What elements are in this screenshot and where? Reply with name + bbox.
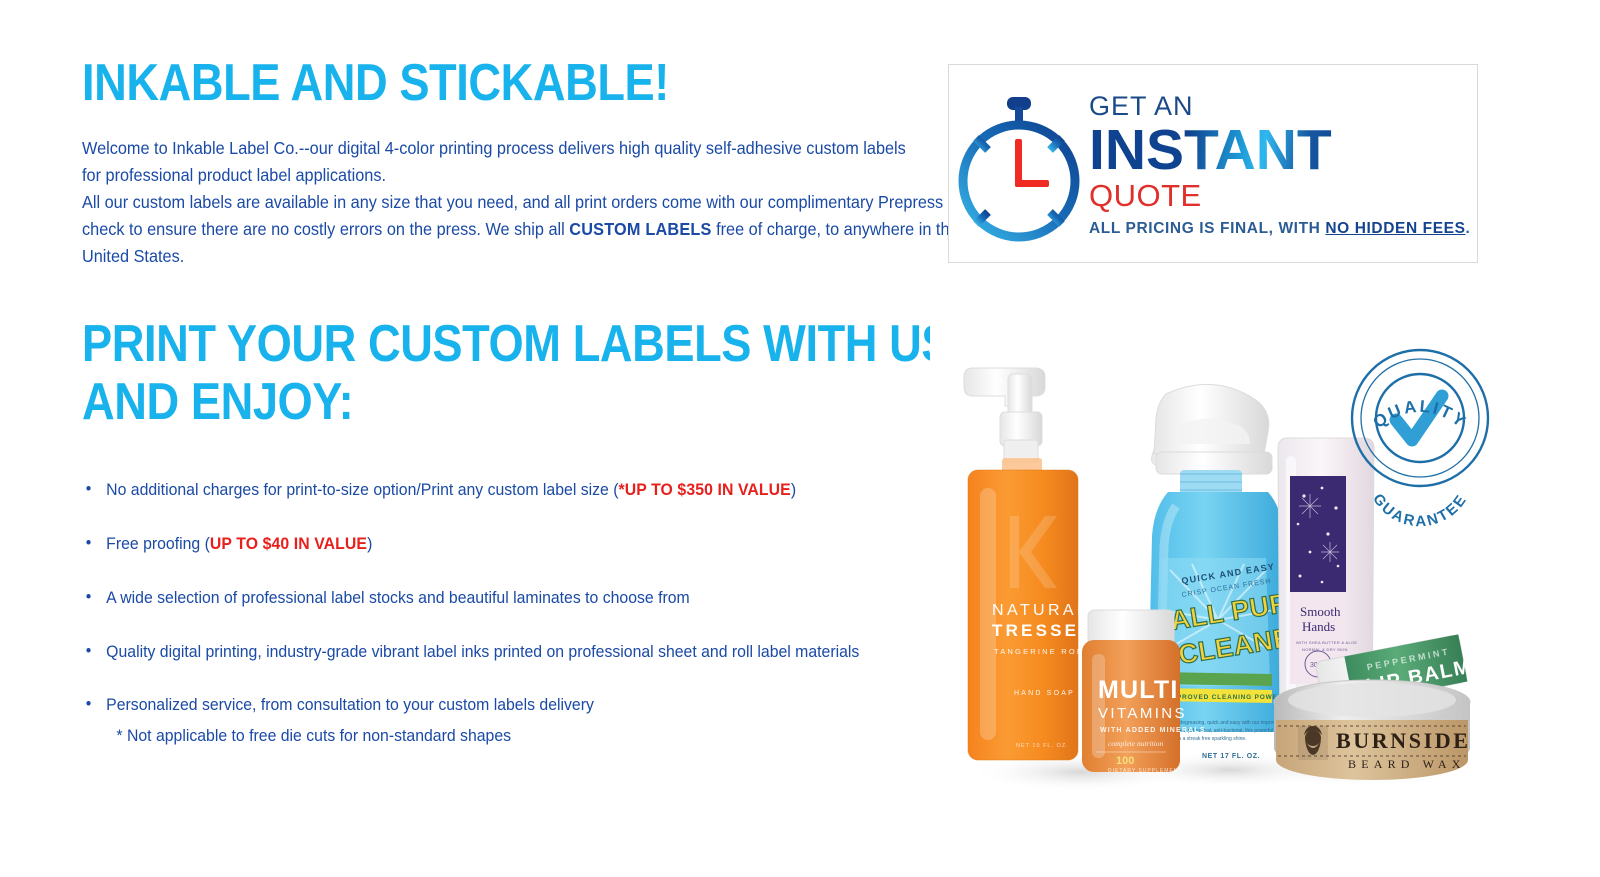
svg-text:BEARD WAX: BEARD WAX [1348,757,1466,771]
instant-quote-text-block: GET AN INSTANT QUOTE ALL PRICING IS FINA… [1089,89,1482,238]
benefit-text: Free proofing ( [106,534,210,553]
quote-tagline: ALL PRICING IS FINAL, WITH NO HIDDEN FEE… [1089,220,1470,238]
intro-paragraphs: Welcome to Inkable Label Co.--our digita… [82,135,975,271]
page-title: INKABLE AND STICKABLE! [82,58,804,109]
benefit-text: Quality digital printing, industry-grade… [106,642,859,661]
intro-para-2: All our custom labels are available in a… [82,189,975,270]
list-item: Free proofing (UP TO $40 IN VALUE) [82,531,910,557]
list-item: Personalized service, from consultation … [82,692,910,749]
svg-text:NET 17 FL. OZ.: NET 17 FL. OZ. [1202,753,1260,760]
svg-text:DIETARY SUPPLEMENT: DIETARY SUPPLEMENT [1108,768,1182,774]
svg-text:100: 100 [1116,755,1134,767]
section-title-print-with-us: PRINT YOUR CUSTOM LABELS WITH US AND ENJ… [82,315,943,431]
svg-text:TRESSES: TRESSES [992,621,1094,640]
list-item: A wide selection of professional label s… [82,585,910,611]
quote-tagline-after: . [1466,220,1471,237]
benefit-text: No additional charges for print-to-size … [106,480,618,499]
quote-tagline-before: ALL PRICING IS FINAL, WITH [1089,220,1325,237]
svg-text:WITH ADDED MINERALS: WITH ADDED MINERALS [1100,727,1206,734]
benefit-text-after: ) [791,480,796,499]
benefit-text-after: ) [367,534,372,553]
list-item: No additional charges for print-to-size … [82,477,910,503]
quote-line-get-an: GET AN [1089,93,1470,120]
quote-line-quote: QUOTE [1089,180,1470,213]
section-title-line-2: AND ENJOY: [82,373,943,431]
svg-text:WITH SHEA BUTTER & ALOE: WITH SHEA BUTTER & ALOE [1296,640,1357,645]
svg-text:Smooth: Smooth [1300,604,1341,619]
list-item: Quality digital printing, industry-grade… [82,639,910,665]
intro-custom-labels-emphasis: CUSTOM LABELS [569,219,711,239]
benefit-highlight: UP TO $40 IN VALUE [210,534,367,553]
benefit-text: Personalized service, from consultation … [106,695,594,714]
intro-para-1-line-2: for professional product label applicati… [82,162,975,189]
svg-text:BURNSIDE: BURNSIDE [1336,728,1471,753]
quote-line-instant: INSTANT [1089,122,1470,179]
svg-text:NORMAL & DRY SKIN: NORMAL & DRY SKIN [1302,647,1348,652]
left-content-column: INKABLE AND STICKABLE! Welcome to Inkabl… [82,58,912,777]
product-beard-wax-tin: BURNSIDE BEARD WAX [1274,680,1471,780]
benefit-footnote: * Not applicable to free die cuts for no… [116,723,909,749]
svg-text:Hands: Hands [1302,619,1335,634]
benefits-list: No additional charges for print-to-size … [82,477,910,749]
svg-text:VITAMINS: VITAMINS [1098,705,1187,722]
svg-text:IMPROVED CLEANING POWER: IMPROVED CLEANING POWER [1168,694,1283,701]
instant-quote-banner[interactable]: GET AN INSTANT QUOTE ALL PRICING IS FINA… [948,64,1478,263]
benefit-text: A wide selection of professional label s… [106,588,690,607]
intro-para-1-line-1: Welcome to Inkable Label Co.--our digita… [82,135,975,162]
svg-text:HAND SOAP: HAND SOAP [1014,690,1075,697]
svg-text:NATURAL: NATURAL [992,602,1089,619]
svg-text:NET 10 FL. OZ.: NET 10 FL. OZ. [1016,743,1069,749]
benefit-highlight: *UP TO $350 IN VALUE [618,480,790,499]
page-root: INKABLE AND STICKABLE! Welcome to Inkabl… [0,0,1600,877]
svg-text:complete nutrition: complete nutrition [1108,739,1163,748]
quote-tagline-underlined: NO HIDDEN FEES [1325,220,1465,237]
product-lineup-photo: NATURAL TRESSES TANGERINE ROMANCE HAND S… [930,320,1490,800]
svg-text:MULTI: MULTI [1098,676,1179,704]
stopwatch-icon [949,65,1089,262]
section-title-line-1: PRINT YOUR CUSTOM LABELS WITH US [82,315,943,373]
